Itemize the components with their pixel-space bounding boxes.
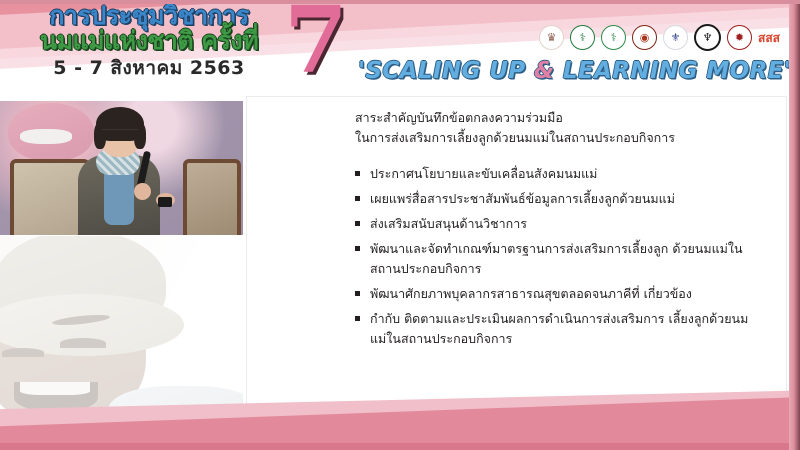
speaker-photo xyxy=(0,101,243,235)
child-photo xyxy=(0,236,243,416)
child-eye-right xyxy=(60,338,106,348)
logo-thaihealth-sss: สสส xyxy=(758,26,780,49)
list-item: กำกับ ติดตามและประเมินผลการดำเนินการส่งเ… xyxy=(355,309,755,349)
list-item: ส่งเสริมสนับสนุนด้านวิชาการ xyxy=(355,214,755,234)
presentation-slide: การประชุมวิชาการ นมแม่แห่งชาติ ครั้งที่ … xyxy=(0,0,800,450)
logo-royal-seal: ♛ xyxy=(539,25,564,50)
event-tagline: 'SCALING UP & LEARNING MORE' xyxy=(358,58,791,84)
logo-royal-seal-glyph: ♛ xyxy=(547,32,557,43)
logo-ministry-public-health-2: ⚕ xyxy=(601,25,626,50)
logo-ministry-public-health-2-glyph: ⚕ xyxy=(611,32,617,43)
logo-university-crest: ◉ xyxy=(632,25,657,50)
event-title-block: การประชุมวิชาการ นมแม่แห่งชาติ ครั้งที่ … xyxy=(14,2,284,80)
tagline-text-second: LEARNING MORE' xyxy=(554,58,791,84)
logo-university-crest-glyph: ◉ xyxy=(640,32,650,43)
speaker-glasses xyxy=(102,129,138,138)
backdrop-lips-graphic xyxy=(8,103,94,161)
partner-logo-strip: ♛ ⚕ ⚕ ◉ ⚜ ♆ ✹ สสส xyxy=(539,24,780,51)
list-item: พัฒนาศักยภาพบุคลากรสาธารณสุขตลอดจนภาคีที… xyxy=(355,284,755,304)
presenter-clicker xyxy=(158,197,172,207)
lead-line-2: ในการส่งเสริมการเลี้ยงลูกด้วยนมแม่ในสถาน… xyxy=(355,128,755,148)
logo-black-seal-glyph: ♆ xyxy=(703,32,713,43)
chair-right xyxy=(183,159,241,235)
agreement-bullet-list: ประกาศนโยบายและขับเคลื่อนสังคมนมแม่ เผยแ… xyxy=(355,164,755,349)
logo-thaihealth-sss-glyph: สสส xyxy=(758,32,780,44)
logo-red-crest: ✹ xyxy=(727,25,752,50)
list-item: พัฒนาและจัดทำเกณฑ์มาตรฐานการส่งเสริมการเ… xyxy=(355,239,755,279)
logo-red-crest-glyph: ✹ xyxy=(735,32,744,43)
lead-line-1: สาระสำคัญบันทึกข้อตกลงความร่วมมือ xyxy=(355,108,755,128)
slide-body: สาระสำคัญบันทึกข้อตกลงความร่วมมือ ในการส… xyxy=(355,108,755,354)
child-teeth xyxy=(20,382,90,395)
list-item: ประกาศนโยบายและขับเคลื่อนสังคมนมแม่ xyxy=(355,164,755,184)
logo-ministry-public-health-1-glyph: ⚕ xyxy=(580,32,586,43)
slide-border-right xyxy=(789,0,800,450)
logo-ministry-public-health-1: ⚕ xyxy=(570,25,595,50)
event-date: 5 - 7 สิงหาคม 2563 xyxy=(14,56,284,80)
tagline-text-first: 'SCALING UP xyxy=(358,58,534,84)
child-eye-left xyxy=(2,348,44,357)
footer-wedge-edge xyxy=(0,443,800,450)
logo-garuda-emblem-glyph: ⚜ xyxy=(671,32,681,43)
logo-garuda-emblem: ⚜ xyxy=(663,25,688,50)
edition-number: 7 xyxy=(284,0,344,86)
logo-black-seal: ♆ xyxy=(694,24,721,51)
event-title-line2: นมแม่แห่งชาติ ครั้งที่ xyxy=(14,27,284,55)
list-item: เผยแพร่สื่อสารประชาสัมพันธ์ข้อมูลการเลี้… xyxy=(355,189,755,209)
speaker-hand-mic xyxy=(134,183,151,200)
slide-border-top xyxy=(0,0,800,4)
tagline-ampersand: & xyxy=(534,58,554,84)
child-photo-inner xyxy=(0,236,243,416)
